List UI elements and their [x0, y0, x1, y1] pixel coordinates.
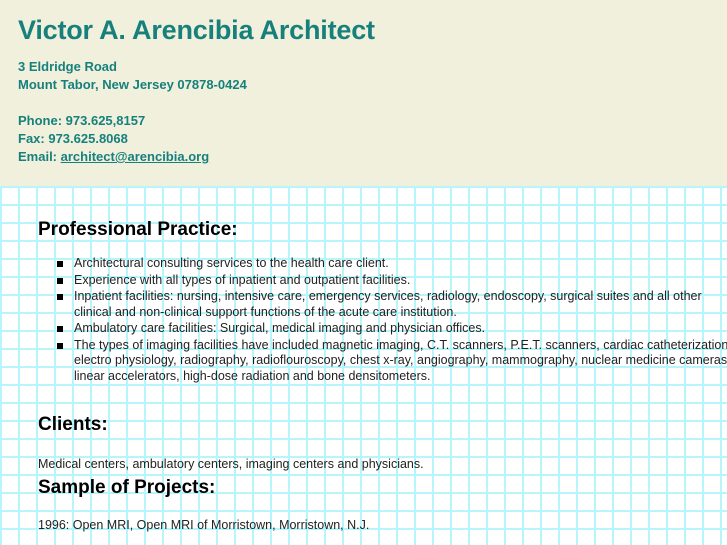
list-item: Experience with all types of inpatient a…: [74, 273, 727, 289]
list-item: Inpatient facilities: nursing, intensive…: [74, 289, 727, 320]
list-item-text: Experience with all types of inpatient a…: [74, 273, 410, 287]
list-item-text: Ambulatory care facilities: Surgical, me…: [74, 321, 485, 335]
section-heading-clients: Clients:: [38, 414, 108, 436]
section-heading-sample-of-projects: Sample of Projects:: [38, 477, 215, 499]
contact-block: Phone: 973.625,8157 Fax: 973.625.8068 Em…: [18, 112, 727, 166]
address-line-street: 3 Eldridge Road: [18, 58, 727, 76]
clients-paragraph: Medical centers, ambulatory centers, ima…: [38, 456, 424, 472]
section-heading-professional-practice: Professional Practice:: [38, 219, 238, 241]
list-item-text: Architectural consulting services to the…: [74, 256, 389, 270]
square-bullet-icon: [57, 294, 63, 300]
list-item-text: The types of imaging facilities have inc…: [74, 338, 727, 383]
phone-line: Phone: 973.625,8157: [18, 112, 727, 130]
fax-line: Fax: 973.625.8068: [18, 130, 727, 148]
email-line: Email: architect@arencibia.org: [18, 148, 727, 166]
list-item: Ambulatory care facilities: Surgical, me…: [74, 321, 727, 337]
square-bullet-icon: [57, 261, 63, 267]
email-link[interactable]: architect@arencibia.org: [61, 149, 210, 164]
address-line-city-state-zip: Mount Tabor, New Jersey 07878-0424: [18, 76, 727, 94]
email-label: Email:: [18, 149, 57, 164]
square-bullet-icon: [57, 343, 63, 349]
list-item: Architectural consulting services to the…: [74, 256, 727, 272]
square-bullet-icon: [57, 326, 63, 332]
list-item-text: Inpatient facilities: nursing, intensive…: [74, 289, 702, 319]
list-item: The types of imaging facilities have inc…: [74, 338, 727, 385]
project-entry-1996: 1996: Open MRI, Open MRI of Morristown, …: [38, 517, 369, 533]
page-root: Victor A. Arencibia Architect 3 Eldridge…: [0, 0, 727, 545]
professional-practice-list: Architectural consulting services to the…: [38, 256, 727, 385]
page-title: Victor A. Arencibia Architect: [18, 14, 727, 46]
page-header: Victor A. Arencibia Architect 3 Eldridge…: [0, 0, 727, 186]
square-bullet-icon: [57, 278, 63, 284]
